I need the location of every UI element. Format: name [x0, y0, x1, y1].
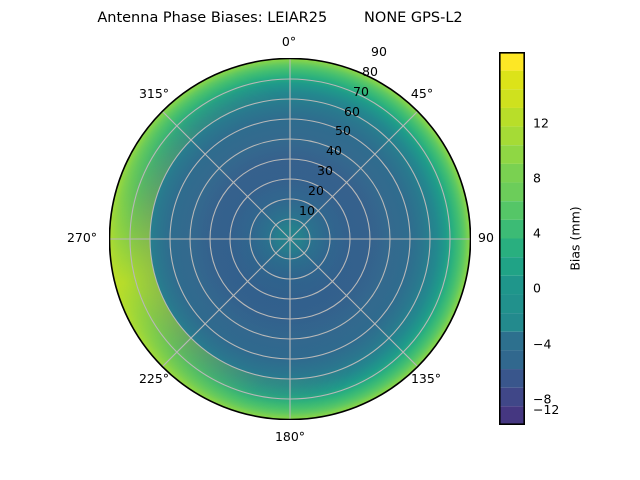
colorbar-tick-0: 0 — [533, 281, 541, 296]
colorbar-gradient — [499, 52, 525, 425]
r-tick-70: 70 — [349, 84, 373, 99]
r-tick-50: 50 — [331, 123, 355, 138]
figure-canvas: Antenna Phase Biases: LEIAR25 NONE GPS-L… — [0, 0, 640, 480]
theta-tick-270: 270° — [53, 230, 111, 245]
colorbar-tick-8: 8 — [533, 170, 541, 185]
r-tick-60: 60 — [340, 104, 364, 119]
colorbar-tick-neg4: −4 — [533, 336, 551, 351]
polar-angular-gridlines — [110, 59, 470, 419]
r-tick-80: 80 — [358, 64, 382, 79]
r-tick-90: 90 — [367, 44, 391, 59]
theta-tick-90: 90 — [471, 230, 501, 245]
polar-heatmap — [109, 58, 471, 420]
r-tick-30: 30 — [313, 163, 337, 178]
r-tick-20: 20 — [304, 183, 328, 198]
theta-tick-0: 0° — [267, 34, 311, 49]
colorbar-tick-4: 4 — [533, 226, 541, 241]
theta-tick-225: 225° — [125, 371, 183, 386]
colorbar-bands — [499, 52, 525, 425]
colorbar[interactable]: 12 8 4 0 −4 −8 — [499, 52, 525, 425]
r-tick-40: 40 — [322, 143, 346, 158]
theta-tick-180: 180° — [261, 429, 319, 444]
polar-plot-axes[interactable]: 0° 45° 90 135° 180° 225° 270° 315° 10 20… — [109, 58, 471, 420]
theta-tick-135: 135° — [397, 371, 455, 386]
theta-tick-315: 315° — [125, 86, 183, 101]
theta-tick-45: 45° — [397, 86, 447, 101]
colorbar-tick-12: 12 — [533, 115, 549, 130]
page-title: Antenna Phase Biases: LEIAR25 NONE GPS-L… — [0, 10, 560, 26]
r-tick-10: 10 — [295, 203, 319, 218]
colorbar-axis-label-text: Bias (mm) — [568, 206, 583, 270]
colorbar-axis-label: Bias (mm) — [566, 52, 584, 425]
colorbar-tick-neg12: −12 — [533, 402, 559, 417]
